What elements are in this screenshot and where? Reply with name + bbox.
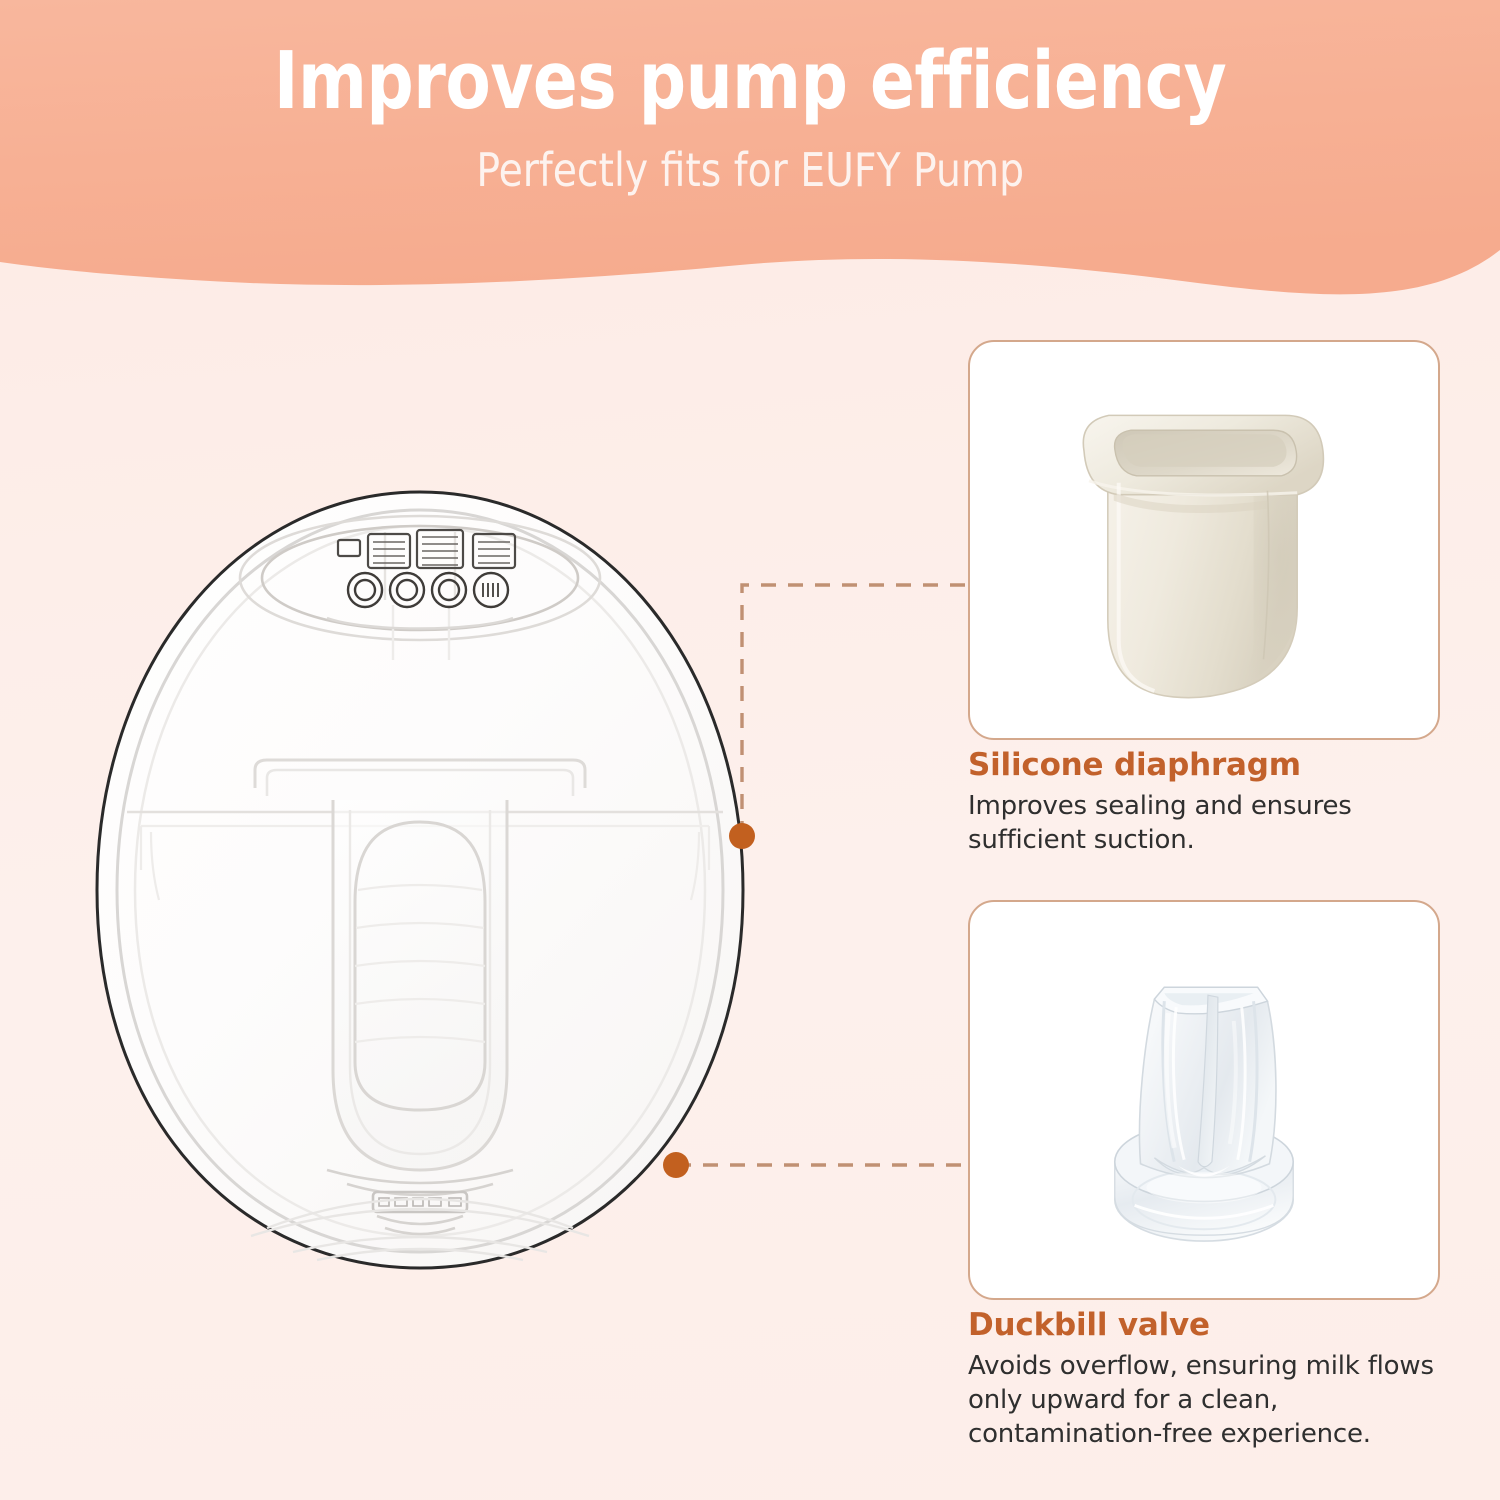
feature-description-silicone-diaphragm: Improves sealing and ensures sufficient … <box>968 790 1468 858</box>
feature-title-silicone-diaphragm: Silicone diaphragm <box>968 748 1468 784</box>
infographic-canvas: Improves pump efficiency Perfectly fits … <box>0 0 1500 1500</box>
header-title: Improves pump efficiency <box>274 42 1226 121</box>
header: Improves pump efficiency Perfectly fits … <box>0 0 1500 300</box>
feature-text-silicone-diaphragm: Silicone diaphragm Improves sealing and … <box>968 748 1468 858</box>
silicone-diaphragm-photo <box>970 342 1438 739</box>
feature-card-duckbill-valve[interactable] <box>968 900 1440 1300</box>
feature-text-duckbill-valve: Duckbill valve Avoids overflow, ensuring… <box>968 1308 1468 1451</box>
main-product-illustration <box>55 470 795 1290</box>
feature-card-silicone-diaphragm[interactable] <box>968 340 1440 740</box>
feature-title-duckbill-valve: Duckbill valve <box>968 1308 1468 1344</box>
feature-description-duckbill-valve: Avoids overflow, ensuring milk flows onl… <box>968 1350 1468 1451</box>
duckbill-valve-photo <box>970 902 1438 1299</box>
header-subtitle: Perfectly fits for EUFY Pump <box>476 147 1024 193</box>
